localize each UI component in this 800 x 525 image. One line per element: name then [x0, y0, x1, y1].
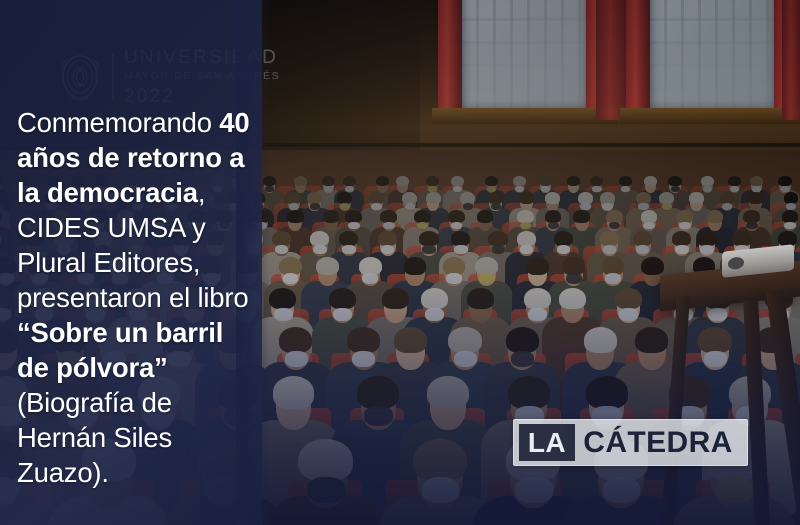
face-mask: [679, 222, 691, 230]
face-mask: [662, 203, 672, 210]
audience-hair: [380, 210, 397, 223]
face-mask: [746, 222, 758, 230]
face-mask: [643, 222, 655, 230]
face-mask: [345, 186, 354, 192]
face-mask: [313, 245, 326, 254]
window-right: [650, 0, 776, 110]
face-mask: [580, 203, 590, 210]
audience-hair: [586, 376, 628, 409]
face-mask: [425, 308, 444, 321]
face-mask: [348, 222, 360, 230]
audience-hair: [485, 176, 498, 186]
audience-hair: [396, 176, 409, 186]
face-mask: [285, 351, 308, 367]
face-mask: [454, 245, 467, 254]
audience-hair: [698, 327, 731, 353]
audience-hair: [322, 176, 335, 186]
face-mask: [487, 186, 496, 192]
audience-hair: [545, 192, 560, 204]
audience-hair: [477, 210, 494, 223]
audience-hair: [414, 210, 431, 223]
face-mask: [703, 186, 712, 192]
face-mask: [557, 245, 570, 254]
audience-hair: [294, 176, 307, 186]
audience-hair: [641, 257, 664, 275]
face-mask: [603, 245, 616, 254]
la-catedra-logo: LA CÁTEDRA: [513, 419, 748, 466]
audience-hair: [707, 210, 724, 223]
audience-hair: [382, 288, 409, 309]
audience-hair: [475, 257, 498, 275]
audience-hair: [641, 210, 658, 223]
window-sill: [620, 108, 800, 124]
face-mask: [422, 477, 460, 503]
window-glass: [462, 0, 588, 110]
screenshot-canvas: UNIVERSIDAD MAYOR DE SAN ANDRÉS 2022 Con…: [0, 0, 800, 525]
face-mask: [289, 203, 299, 210]
face-mask: [638, 203, 648, 210]
audience-hair: [287, 210, 304, 223]
curtain-left: [438, 0, 464, 122]
face-mask: [405, 203, 415, 210]
audience-hair: [644, 176, 657, 186]
audience-hair: [337, 192, 352, 204]
audience-hair: [316, 257, 339, 275]
audience-hair: [329, 288, 356, 309]
caption-run-4: (Biografía de Hernán Siles Zuazo).: [17, 387, 172, 488]
audience-hair: [269, 288, 296, 309]
face-mask: [730, 186, 739, 192]
audience-hair: [345, 210, 362, 223]
audience-hair: [545, 210, 562, 223]
audience-hair: [615, 288, 642, 309]
audience-hair: [298, 439, 352, 481]
face-mask: [605, 273, 621, 284]
audience-hair: [376, 176, 389, 186]
logo-catedra-word: CÁTEDRA: [575, 420, 747, 465]
audience-hair: [359, 257, 382, 275]
audience-hair: [602, 257, 625, 275]
audience-hair: [404, 257, 427, 275]
audience-hair: [519, 192, 534, 204]
audience-hair: [460, 192, 475, 204]
audience-hair: [784, 192, 799, 204]
audience-hair: [676, 210, 693, 223]
audience-hair: [635, 327, 668, 353]
audience-hair: [590, 176, 603, 186]
face-mask: [352, 351, 375, 367]
audience-hair: [448, 210, 465, 223]
audience-hair: [526, 257, 549, 275]
face-mask: [716, 477, 754, 503]
face-mask: [362, 273, 378, 284]
audience-hair: [750, 176, 763, 186]
audience-hair: [323, 210, 340, 223]
audience-hair: [347, 327, 380, 353]
face-mask: [492, 245, 505, 254]
face-mask: [422, 245, 435, 254]
face-mask: [283, 273, 299, 284]
audience-hair: [606, 210, 623, 223]
audience-hair: [279, 257, 302, 275]
face-mask: [453, 186, 462, 192]
caption-run-3: “Sobre un barril de pólvora”: [17, 317, 223, 383]
face-mask: [479, 273, 495, 284]
audience-hair: [578, 192, 593, 204]
audience-hair: [421, 288, 448, 309]
curtain-panel-right: [782, 0, 800, 120]
face-mask: [781, 186, 790, 192]
face-mask: [675, 245, 688, 254]
face-mask: [602, 203, 612, 210]
audience-hair: [559, 288, 586, 309]
audience-hair: [743, 210, 760, 223]
audience-hair: [573, 210, 590, 223]
caption-run-0: Conmemorando: [17, 107, 219, 138]
audience-hair: [539, 176, 552, 186]
curtain-left: [626, 0, 652, 122]
face-mask: [364, 406, 393, 426]
audience-hair: [748, 192, 763, 204]
audience-hair: [343, 176, 356, 186]
face-mask: [454, 351, 477, 367]
audience-hair: [467, 288, 494, 309]
face-mask: [383, 222, 395, 230]
face-mask: [671, 186, 680, 192]
audience-hair: [701, 176, 714, 186]
face-mask: [511, 351, 534, 367]
face-mask: [310, 203, 320, 210]
audience-hair: [369, 192, 384, 204]
audience-hair: [517, 210, 534, 223]
face-mask: [515, 477, 553, 503]
face-mask: [371, 203, 381, 210]
audience-hair: [584, 327, 617, 353]
face-mask: [274, 308, 293, 321]
audience-hair: [659, 192, 674, 204]
face-mask: [704, 351, 727, 367]
window-left: [462, 0, 588, 110]
face-mask: [307, 477, 345, 503]
audience-hair: [443, 257, 466, 275]
face-mask: [621, 186, 630, 192]
face-mask: [528, 308, 547, 321]
face-mask: [324, 186, 333, 192]
audience-hair: [426, 176, 439, 186]
audience-hair: [778, 176, 791, 186]
audience-hair: [689, 192, 704, 204]
face-mask: [566, 273, 582, 284]
audience-hair: [402, 192, 417, 204]
face-mask: [752, 186, 761, 192]
audience-hair: [600, 192, 615, 204]
audience-hair: [286, 192, 301, 204]
audience-hair: [279, 327, 312, 353]
caption-text: Conmemorando 40 años de retorno a la dem…: [17, 105, 255, 490]
audience-hair: [426, 192, 441, 204]
audience-hair: [567, 176, 580, 186]
audience-hair: [488, 192, 503, 204]
audience-hair: [451, 176, 464, 186]
face-mask: [786, 203, 796, 210]
face-mask: [340, 203, 350, 210]
audience-hair: [668, 176, 681, 186]
face-mask: [541, 186, 550, 192]
face-mask: [700, 245, 713, 254]
face-mask: [333, 308, 352, 321]
audience-hair: [448, 327, 481, 353]
audience-hair: [307, 192, 322, 204]
logo-la-badge: LA: [519, 424, 575, 461]
audience-hair: [728, 176, 741, 186]
audience-hair: [619, 176, 632, 186]
face-mask: [619, 308, 638, 321]
face-mask: [463, 203, 473, 210]
face-mask: [428, 186, 437, 192]
audience-hair: [524, 288, 551, 309]
face-mask: [446, 273, 462, 284]
face-mask: [603, 477, 641, 503]
audience-hair: [562, 257, 585, 275]
face-mask: [515, 186, 524, 192]
audience-hair: [394, 327, 427, 353]
audience-hair: [636, 192, 651, 204]
window-glass: [650, 0, 776, 110]
face-mask: [722, 203, 732, 210]
face-mask: [708, 308, 727, 321]
face-mask: [342, 245, 355, 254]
audience-hair: [513, 176, 526, 186]
audience-hair: [508, 376, 550, 409]
window-sill: [432, 108, 618, 124]
audience-hair: [782, 210, 799, 223]
face-mask: [491, 203, 501, 210]
audience-hair: [720, 192, 735, 204]
audience-hair: [357, 376, 399, 409]
audience-hair: [506, 327, 539, 353]
face-mask: [592, 186, 601, 192]
audience-hair: [427, 376, 469, 409]
audience-hair: [273, 376, 315, 409]
audience-hair: [413, 439, 467, 481]
